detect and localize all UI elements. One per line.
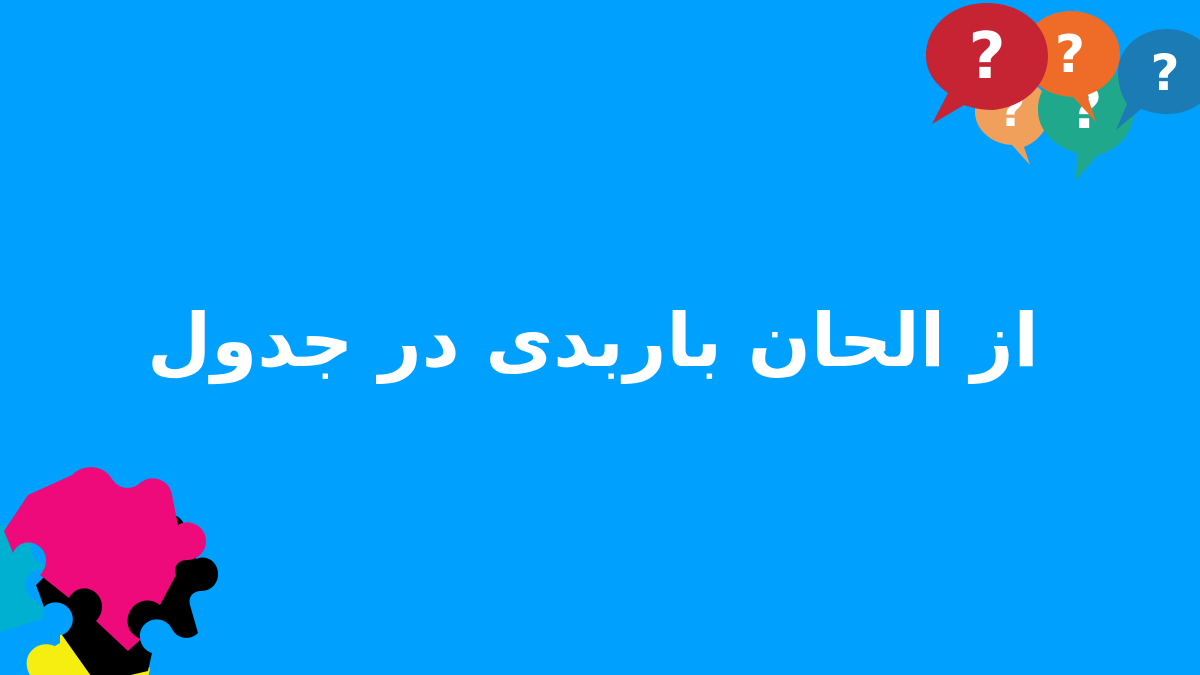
puzzle-piece-cyan bbox=[0, 523, 78, 645]
puzzle-piece-yellow bbox=[27, 623, 150, 675]
puzzle-piece-cyan-shape bbox=[0, 523, 78, 645]
puzzle-piece-yellow-body bbox=[42, 623, 150, 675]
bubble-light-orange-shape bbox=[975, 78, 1049, 165]
bubble-teal-shape bbox=[1038, 64, 1134, 180]
jigsaw-puzzle-pieces bbox=[0, 455, 240, 675]
puzzle-piece-yellow-shape bbox=[27, 630, 124, 675]
bubble-blue-glyph: ? bbox=[1150, 44, 1179, 102]
bubble-teal-glyph: ? bbox=[1070, 77, 1102, 142]
bubble-orange: ? bbox=[1022, 11, 1120, 122]
bubble-red-shape bbox=[926, 3, 1048, 124]
puzzle-piece-magenta bbox=[4, 467, 206, 651]
question-mark-speech-bubbles: ? ? ? ? ? bbox=[900, 0, 1200, 180]
bubble-red: ? bbox=[926, 3, 1048, 124]
bubble-teal: ? bbox=[1038, 64, 1134, 180]
puzzle-piece-black bbox=[36, 499, 218, 675]
bubble-blue-shape bbox=[1116, 29, 1200, 130]
bubble-red-glyph: ? bbox=[968, 20, 1005, 94]
bubble-orange-glyph: ? bbox=[1055, 25, 1085, 85]
bubble-blue: ? bbox=[1116, 29, 1200, 130]
puzzle-piece-magenta-shape bbox=[4, 467, 206, 651]
bubble-light-orange: ? bbox=[975, 78, 1049, 165]
bubble-orange-shape bbox=[1022, 11, 1120, 122]
bubble-light-orange-glyph: ? bbox=[999, 83, 1026, 137]
page-title: از الحان باربدی در جدول bbox=[147, 298, 1039, 385]
headline-container: از الحان باربدی در جدول bbox=[0, 0, 1200, 675]
puzzle-piece-black-shape bbox=[36, 499, 218, 675]
slide-canvas: ? ? ? ? ? bbox=[0, 0, 1200, 675]
